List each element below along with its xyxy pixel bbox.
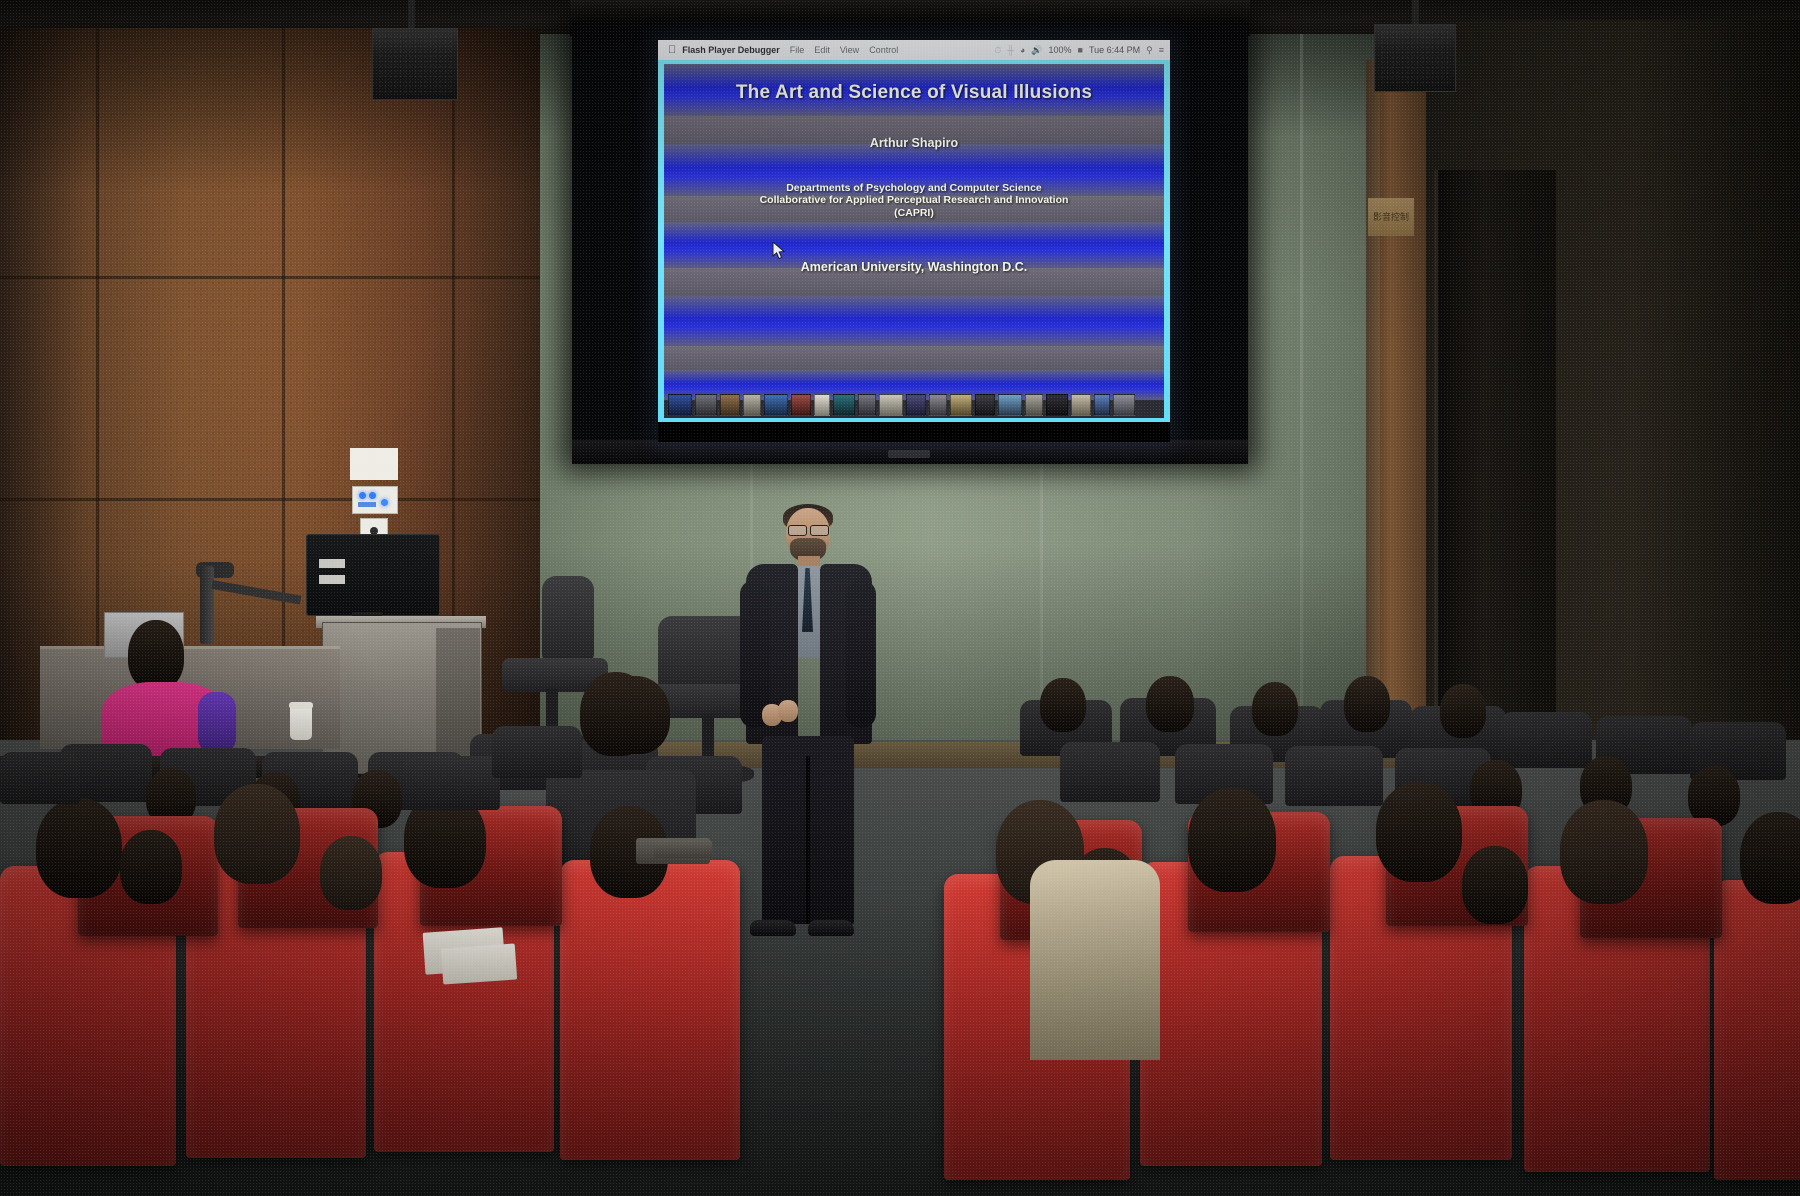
slide-thumbnail-12[interactable] [929, 394, 947, 416]
slide-thumbnail-5[interactable] [764, 394, 788, 416]
slide-thumbnail-19[interactable] [1094, 394, 1110, 416]
room: 影音控制  Flash Player Debugger File Edit V… [0, 0, 1800, 1196]
presenter-shoe-left [750, 920, 796, 936]
slide-thumbnail-6[interactable] [791, 394, 811, 416]
slide-affiliation: Departments of Psychology and Computer S… [664, 182, 1164, 219]
affiliation-line-1: Departments of Psychology and Computer S… [664, 182, 1164, 194]
audience-chair-front-4 [560, 860, 740, 1160]
slide-thumbnail-7[interactable] [814, 394, 830, 416]
slide-thumbnail-15[interactable] [998, 394, 1022, 416]
slide-thumbnail-2[interactable] [695, 394, 717, 416]
presenter-shoe-right [808, 920, 854, 936]
affiliation-line-3: (CAPRI) [664, 207, 1164, 219]
audience-head-front-11 [320, 836, 382, 910]
slide-thumbnail-20[interactable] [1113, 394, 1135, 416]
affiliation-line-2: Collaborative for Applied Perceptual Res… [664, 194, 1164, 206]
slide-thumbnail-11[interactable] [906, 394, 926, 416]
podium-monitor: DELL [306, 534, 440, 616]
audience-head-mid-3 [1252, 682, 1298, 736]
audience-head-front-10 [120, 830, 182, 904]
slide-thumbnail-strip[interactable] [664, 392, 1164, 418]
door[interactable] [1434, 170, 1556, 730]
door-sign: 影音控制 [1368, 198, 1414, 236]
audience-seatback-back-7 [1060, 742, 1160, 802]
slide-title: The Art and Science of Visual Illusions [664, 82, 1164, 104]
audience-seatback-back-6 [1500, 712, 1592, 768]
presenter [728, 508, 888, 970]
slide-thumbnail-14[interactable] [975, 394, 995, 416]
slide-thumbnail-17[interactable] [1046, 394, 1068, 416]
audience-head-mid-1 [1040, 678, 1086, 732]
slide-thumbnail-9[interactable] [858, 394, 876, 416]
audience-head-front-1 [36, 798, 122, 898]
operator-head [128, 620, 184, 690]
volume-icon[interactable]: 🔊 [1031, 45, 1042, 56]
wood-wall-right [1366, 60, 1426, 760]
slide-thumbnail-3[interactable] [720, 394, 740, 416]
menu-bar-clock[interactable]: Tue 6:44 PM [1089, 45, 1140, 55]
chair-tablet-arm-2 [654, 840, 712, 858]
presentation-slide: The Art and Science of Visual Illusions … [658, 60, 1170, 422]
slide-thumbnail-4[interactable] [743, 394, 761, 416]
slide-thumbnail-16[interactable] [1025, 394, 1043, 416]
menu-app-name[interactable]: Flash Player Debugger [682, 45, 780, 55]
projected-computer-screen:  Flash Player Debugger File Edit View C… [658, 40, 1170, 442]
audience-head-mid-5 [1440, 684, 1486, 738]
av-control-panel[interactable] [352, 486, 398, 514]
aisle-chair-1 [0, 752, 80, 804]
slide-author: Arthur Shapiro [664, 136, 1164, 151]
battery-percent-label: 100% [1048, 45, 1071, 55]
menu-view[interactable]: View [840, 45, 859, 55]
slide-thumbnail-1[interactable] [668, 394, 692, 416]
wifi-icon[interactable]: ◕ [1020, 45, 1025, 55]
audience-head-front-9 [1740, 812, 1800, 904]
menu-control[interactable]: Control [869, 45, 898, 55]
menu-file[interactable]: File [790, 45, 805, 55]
aisle-chair-3 [492, 726, 582, 778]
list-icon[interactable]: ≡ [1159, 45, 1164, 55]
audience-head-mid-12 [1688, 766, 1740, 826]
aisle-chair-2 [404, 756, 500, 810]
presenter-arm-right [846, 580, 876, 728]
ceiling-speaker-left [372, 28, 458, 100]
audience-head-front-6 [1188, 788, 1276, 892]
ceiling-speaker-right [1374, 24, 1456, 92]
notes-paper-2 [441, 943, 517, 984]
macos-menu-bar:  Flash Player Debugger File Edit View C… [658, 40, 1170, 60]
slide-canvas: The Art and Science of Visual Illusions … [664, 64, 1164, 418]
presenter-hand-right [778, 700, 798, 722]
audience-attendee-light-jacket [1030, 860, 1160, 1060]
audience-chair-front-9 [1714, 880, 1800, 1180]
speaker-arm-left [408, 0, 415, 30]
bluetooth-icon[interactable]: ╫ [1007, 45, 1013, 55]
projection-screen-handle[interactable] [888, 450, 930, 458]
audience-seatback-back-9 [1285, 746, 1383, 806]
audience-head-front-2 [214, 784, 300, 884]
audience-head-front-8 [1560, 800, 1648, 904]
glasses-right-lens-icon [810, 525, 829, 536]
glasses-left-lens-icon [788, 525, 807, 536]
slide-thumbnail-8[interactable] [833, 394, 855, 416]
emergency-sign [350, 448, 398, 480]
audience-head-front-7 [1376, 782, 1462, 882]
presenter-leg-split [806, 756, 810, 924]
seated-operator [100, 620, 240, 750]
search-icon[interactable]: ⚲ [1146, 45, 1153, 56]
slide-thumbnail-10[interactable] [879, 394, 903, 416]
lecture-hall-photo: 影音控制  Flash Player Debugger File Edit V… [0, 0, 1800, 1196]
slide-thumbnail-18[interactable] [1071, 394, 1091, 416]
apple-logo-icon[interactable]:  [664, 45, 682, 56]
menu-edit[interactable]: Edit [814, 45, 830, 55]
audience-head-suited [580, 672, 652, 756]
slide-thumbnail-13[interactable] [950, 394, 972, 416]
audience-head-mid-2 [1146, 676, 1194, 732]
audience-head-mid-4 [1344, 676, 1390, 732]
battery-icon[interactable]: ■ [1078, 45, 1083, 55]
coffee-cup [290, 706, 312, 740]
clock-icon[interactable]: ⏱ [994, 45, 1001, 56]
audience-head-front-13 [1462, 846, 1528, 924]
speaker-arm-right [1412, 0, 1419, 26]
slide-university: American University, Washington D.C. [664, 260, 1164, 275]
